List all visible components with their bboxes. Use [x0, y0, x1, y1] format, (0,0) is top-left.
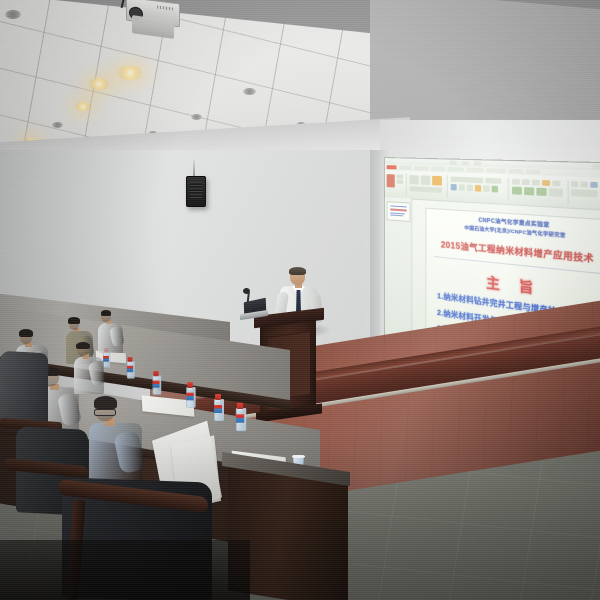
attendee-hair	[101, 310, 112, 316]
attendee-hair	[76, 342, 89, 349]
attendee-hair	[68, 317, 80, 323]
conference-room-photo: CNPC油气化学重点实验室 中国石油大学(北京)/CNPC油气化学研究室 201…	[0, 0, 600, 600]
attendee-front-reader	[86, 398, 148, 488]
foreground-chair-back[interactable]	[0, 351, 48, 428]
attendee-hair	[19, 329, 33, 337]
attendee-far-back	[97, 311, 126, 353]
foreground-shadow	[0, 540, 250, 600]
attendee-hair	[94, 396, 117, 408]
eyeglasses-icon	[94, 409, 116, 416]
